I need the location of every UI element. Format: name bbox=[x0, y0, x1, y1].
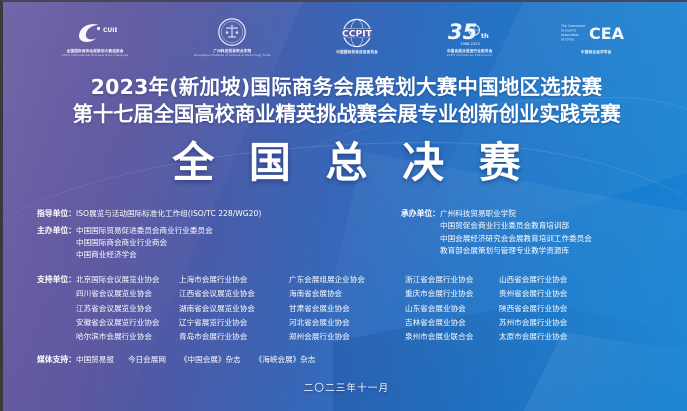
credit-value: 中国商业经济学会 bbox=[76, 249, 389, 261]
credit-value: 中国国际商会商业行业商会 bbox=[76, 237, 389, 249]
credit-label-host: 主办单位： bbox=[37, 225, 76, 238]
credit-value: 中国国际贸易促进委员会商业行业委员会 bbox=[76, 225, 389, 237]
credit-value: 中国贸促会商业行业委员会教育培训部 bbox=[440, 220, 687, 232]
support-unit: 辽宁省展览行业协会 bbox=[179, 317, 289, 329]
support-unit: 青岛市会展行业协会 bbox=[179, 331, 289, 343]
headline-block: 2023年(新加坡)国际商务会展策划大赛中国地区选拔赛 第十七届全国高校商业精英… bbox=[3, 74, 687, 186]
cea-wordmark: CEA bbox=[589, 24, 625, 43]
support-unit: 陕西省会展行业协会 bbox=[499, 303, 599, 315]
event-date: 二〇二三年十一月 bbox=[3, 380, 687, 394]
credit-value: 中国会展经济研究会会展教育培训工作委员会 bbox=[440, 233, 687, 245]
credit-value: 广州科技贸易职业学院 bbox=[440, 208, 687, 220]
support-unit: 北京国际会议展览业协会 bbox=[76, 274, 179, 286]
media-outlet-list: 中国贸易报 今日会展网 《中国会展》杂志 《海峡会展》杂志 bbox=[76, 354, 315, 365]
ccpit-wordmark: CCPIT bbox=[342, 29, 373, 40]
credit-label-guidance: 指导单位： bbox=[37, 208, 76, 221]
headline-line-1: 2023年(新加坡)国际商务会展策划大赛中国地区选拔赛 bbox=[3, 74, 687, 101]
credit-row-host: 主办单位： 中国国际贸易促进委员会商业行业委员会 中国国际商会商业行业商会 中国… bbox=[37, 225, 389, 262]
support-unit: 江西省会议展览业协会 bbox=[179, 288, 289, 300]
media-outlet: 今日会展网 bbox=[128, 354, 166, 365]
credit-row-organizer: 承办单位： 广州科技贸易职业学院 中国贸促会商业行业委员会教育培训部 中国会展经… bbox=[401, 208, 687, 257]
logo-cuibc: CUIBC 全国国际商务会展策划大赛组委会 China Internationa… bbox=[62, 17, 129, 58]
logo-ccpit-caption: 中国国际贸易促进委员会 bbox=[336, 50, 378, 55]
logo-cea-caption: 中国商业经济学会 bbox=[581, 50, 611, 55]
anniversary-number: 35 bbox=[448, 20, 477, 44]
svg-text:th: th bbox=[481, 32, 489, 40]
background-facet-corner bbox=[523, 332, 687, 411]
svg-text:Association: Association bbox=[561, 33, 579, 37]
support-unit: 吉林省会展业协会 bbox=[405, 317, 499, 329]
event-poster: CUIBC 全国国际商务会展策划大赛组委会 China Internationa… bbox=[0, 0, 687, 411]
cuibc-wordmark: CUIBC bbox=[103, 27, 117, 34]
support-units-block: 支持单位： 北京国际会议展览业协会 上海市会展行业协会 广东会展组展企业协会 浙… bbox=[3, 274, 687, 343]
media-outlet: 《海峡会展》杂志 bbox=[255, 354, 316, 365]
support-unit: 山西省会展行业协会 bbox=[499, 274, 599, 286]
cuibc-emblem-icon: CUIBC bbox=[73, 17, 117, 47]
credit-row-guidance: 指导单位： ISO展览与活动国际标准化工作组(ISO/TC 228/WG20) bbox=[37, 208, 389, 221]
media-support-label: 媒体支持： bbox=[37, 354, 76, 365]
support-units-label: 支持单位： bbox=[37, 274, 76, 285]
logo-ccpit-35th: 35 th 1988-2023 中国会展业促进行业委员会 CCPIT Comme… bbox=[444, 17, 496, 58]
logo-cea: The Commerce Economic Association of Chi… bbox=[561, 18, 631, 55]
support-unit: 上海市会展行业协会 bbox=[179, 274, 289, 286]
support-units-grid: 北京国际会议展览业协会 上海市会展行业协会 广东会展组展企业协会 浙江省会展行业… bbox=[76, 274, 599, 343]
credit-values-guidance: ISO展览与活动国际标准化工作组(ISO/TC 228/WG20) bbox=[76, 208, 389, 220]
credits-column-right: 承办单位： 广州科技贸易职业学院 中国贸促会商业行业委员会教育培训部 中国会展经… bbox=[389, 208, 687, 261]
support-unit: 重庆市会展行业协会 bbox=[405, 288, 499, 300]
support-unit: 海南省会展协会 bbox=[289, 288, 405, 300]
logo-ccpit-35th-caption: 中国会展业促进行业委员会 CCPIT Commercial Sub-Counci… bbox=[447, 49, 493, 58]
support-unit: 安徽省会议展览行业协会 bbox=[76, 317, 179, 329]
support-unit: 湖南省会议展览业协会 bbox=[179, 303, 289, 315]
media-outlet: 中国贸易报 bbox=[76, 354, 114, 365]
media-support-block: 媒体支持： 中国贸易报 今日会展网 《中国会展》杂志 《海峡会展》杂志 bbox=[3, 354, 687, 365]
credit-values-organizer: 广州科技贸易职业学院 中国贸促会商业行业委员会教育培训部 中国会展经济研究会会展… bbox=[440, 208, 687, 257]
support-unit: 郑州会展行业协会 bbox=[289, 331, 405, 343]
support-unit: 山东省会展业协会 bbox=[405, 303, 499, 315]
cea-emblem-icon: The Commerce Economic Association of Chi… bbox=[561, 18, 631, 48]
credit-value: ISO展览与活动国际标准化工作组(ISO/TC 228/WG20) bbox=[76, 208, 389, 220]
support-unit: 河北省会展业协会 bbox=[289, 317, 405, 329]
media-outlet: 《中国会展》杂志 bbox=[180, 354, 241, 365]
headline-final-title: 全 国 总 决 赛 bbox=[3, 140, 687, 186]
college-crest-icon bbox=[217, 17, 247, 47]
support-unit: 泉州市会展业联合会 bbox=[405, 331, 499, 343]
credits-column-left: 指导单位： ISO展览与活动国际标准化工作组(ISO/TC 228/WG20) … bbox=[3, 208, 389, 266]
support-unit: 广东会展组展企业协会 bbox=[289, 274, 405, 286]
headline-line-2: 第十七届全国高校商业精英挑战赛会展专业创新创业实践竞赛 bbox=[3, 101, 687, 128]
anniversary-years: 1988-2023 bbox=[460, 42, 480, 46]
anniversary-35th-icon: 35 th 1988-2023 bbox=[444, 17, 496, 47]
support-unit: 浙江省会展行业协会 bbox=[405, 274, 499, 286]
svg-text:of China: of China bbox=[561, 38, 574, 42]
support-unit: 哈尔滨市会展行业协会 bbox=[76, 331, 179, 343]
logo-gzxm-college: 广州科技贸易职业学院 Guangzhou Institute of Scienc… bbox=[194, 17, 271, 58]
credit-values-host: 中国国际贸易促进委员会商业行业委员会 中国国际商会商业行业商会 中国商业经济学会 bbox=[76, 225, 389, 262]
sponsor-logo-strip: CUIBC 全国国际商务会展策划大赛组委会 China Internationa… bbox=[3, 8, 687, 66]
svg-text:Economic: Economic bbox=[561, 29, 577, 33]
logo-ccpit: CCPIT 中国国际贸易促进委员会 bbox=[336, 18, 378, 55]
support-unit: 苏州市会展行业协会 bbox=[499, 317, 599, 329]
support-unit: 四川省会议展览业协会 bbox=[76, 288, 179, 300]
svg-text:The Commerce: The Commerce bbox=[561, 24, 585, 28]
credits-block: 指导单位： ISO展览与活动国际标准化工作组(ISO/TC 228/WG20) … bbox=[3, 208, 687, 266]
logo-cuibc-caption: 全国国际商务会展策划大赛组委会 China International Busi… bbox=[62, 49, 129, 58]
logo-gzxm-college-caption: 广州科技贸易职业学院 Guangzhou Institute of Scienc… bbox=[194, 49, 271, 58]
support-unit: 贵州省会展行业协会 bbox=[499, 288, 599, 300]
support-unit: 太原市会展行业协会 bbox=[499, 331, 599, 343]
credit-value: 教育部会展策划与管理专业教学资源库 bbox=[440, 245, 687, 257]
support-unit: 甘肃省会展业协会 bbox=[289, 303, 405, 315]
support-unit: 江苏省会议展览业协会 bbox=[76, 303, 179, 315]
ccpit-globe-icon: CCPIT bbox=[336, 18, 378, 48]
credit-label-organizer: 承办单位： bbox=[401, 208, 440, 221]
